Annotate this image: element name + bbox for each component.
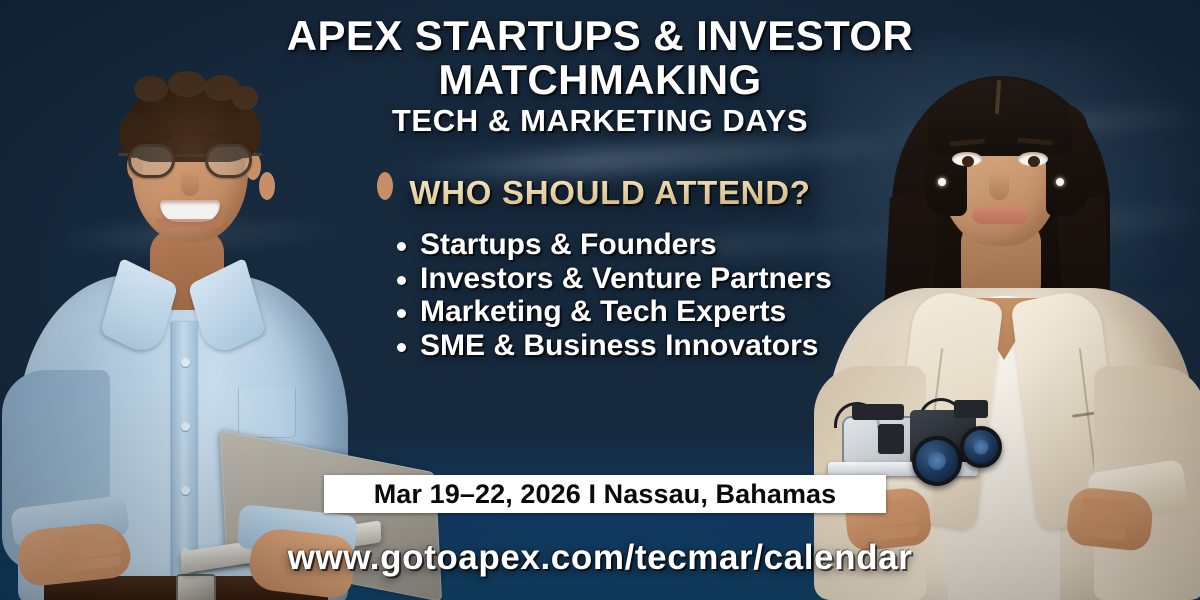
- attendee-list: Startups & Founders Investors & Venture …: [392, 228, 1012, 362]
- subheadline: TECH & MARKETING DAYS: [0, 103, 1200, 139]
- attend-section-heading: WHO SHOULD ATTEND?: [330, 174, 890, 212]
- event-poster: APEX STARTUPS & INVESTOR MATCHMAKING TEC…: [0, 0, 1200, 600]
- event-url[interactable]: www.gotoapex.com/tecmar/calendar: [0, 538, 1200, 578]
- list-item: Investors & Venture Partners: [392, 262, 1012, 296]
- page-title: APEX STARTUPS & INVESTOR MATCHMAKING: [0, 14, 1200, 102]
- list-item: Marketing & Tech Experts: [392, 295, 1012, 329]
- date-location-text: Mar 19–22, 2026 I Nassau, Bahamas: [374, 479, 837, 510]
- headline-line-2: MATCHMAKING: [0, 58, 1200, 102]
- list-item: Startups & Founders: [392, 228, 1012, 262]
- date-location-banner: Mar 19–22, 2026 I Nassau, Bahamas: [324, 475, 886, 513]
- headline-line-1: APEX STARTUPS & INVESTOR: [0, 14, 1200, 58]
- list-item: SME & Business Innovators: [392, 329, 1012, 363]
